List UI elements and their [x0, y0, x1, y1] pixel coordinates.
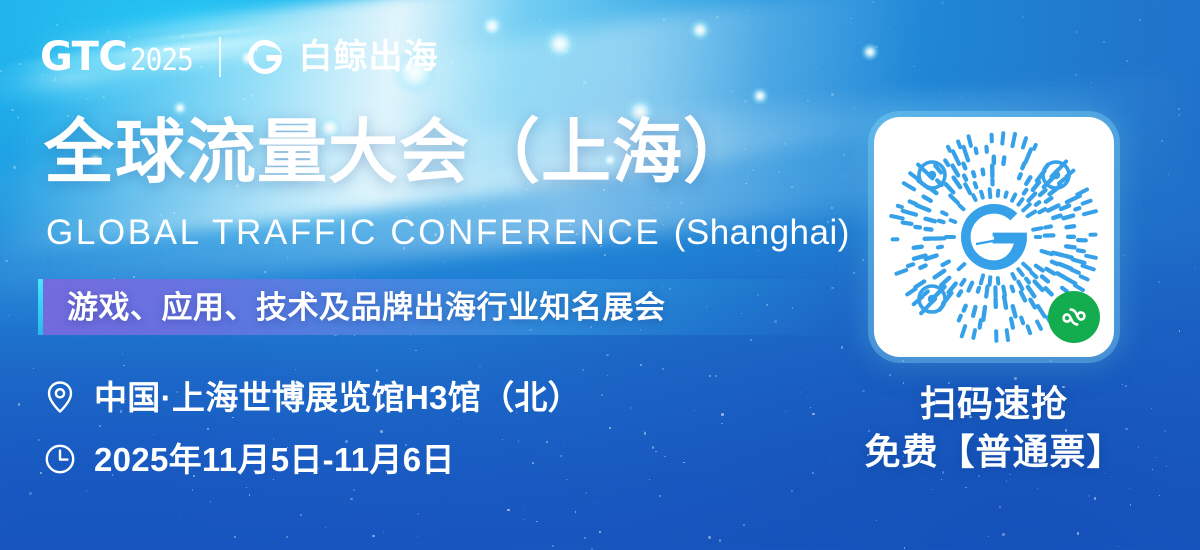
- clock-icon: [42, 441, 78, 477]
- wechat-mini-program-icon: [1048, 291, 1100, 343]
- venue-text: 中国·上海世博展览馆H3馆（北）: [94, 381, 581, 414]
- qr-cta-line-2: 免费【普通票】: [858, 428, 1130, 476]
- brand-lockup: 白鲸出海: [243, 35, 439, 79]
- qr-code-inner: [874, 117, 1114, 357]
- banner-content: GTC 2025 白鲸出海 全球流量大会（上海） GLOBAL TRAFFIC …: [0, 0, 1200, 550]
- qr-cta-line-1: 扫码速抢: [858, 380, 1130, 428]
- page-title-en: GLOBAL TRAFFIC CONFERENCE (Shanghai): [46, 212, 850, 254]
- wechat-mini-program-qr-code[interactable]: [874, 117, 1114, 357]
- location-pin-icon: [42, 379, 78, 415]
- tagline-accent-bar: [38, 279, 43, 335]
- qr-cta-text: 扫码速抢 免费【普通票】: [858, 380, 1130, 476]
- page-title-en-city: (Shanghai): [674, 213, 850, 252]
- gtc-wordmark: GTC: [40, 37, 127, 77]
- gtc-year: 2025: [130, 46, 193, 76]
- tagline-text: 游戏、应用、技术及品牌出海行业知名展会: [67, 292, 666, 323]
- gtc-logo: GTC 2025: [40, 37, 199, 77]
- page-title-en-main: GLOBAL TRAFFIC CONFERENCE: [46, 213, 674, 252]
- logo-divider: [219, 37, 221, 77]
- tagline-band: 游戏、应用、技术及品牌出海行业知名展会: [38, 279, 850, 335]
- logo-row: GTC 2025 白鲸出海: [40, 30, 439, 84]
- qr-center-g-logo-icon: [957, 200, 1031, 274]
- page-title-cn: 全球流量大会（上海）: [44, 112, 754, 193]
- brand-name: 白鲸出海: [299, 40, 439, 74]
- conference-promo-banner: GTC 2025 白鲸出海 全球流量大会（上海） GLOBAL TRAFFIC …: [0, 0, 1200, 550]
- venue-info-row: 中国·上海世博展览馆H3馆（北）: [42, 379, 581, 415]
- date-text: 2025年11月5日-11月6日: [94, 443, 455, 476]
- date-info-row: 2025年11月5日-11月6日: [42, 441, 455, 477]
- whale-g-logo-icon: [243, 35, 287, 79]
